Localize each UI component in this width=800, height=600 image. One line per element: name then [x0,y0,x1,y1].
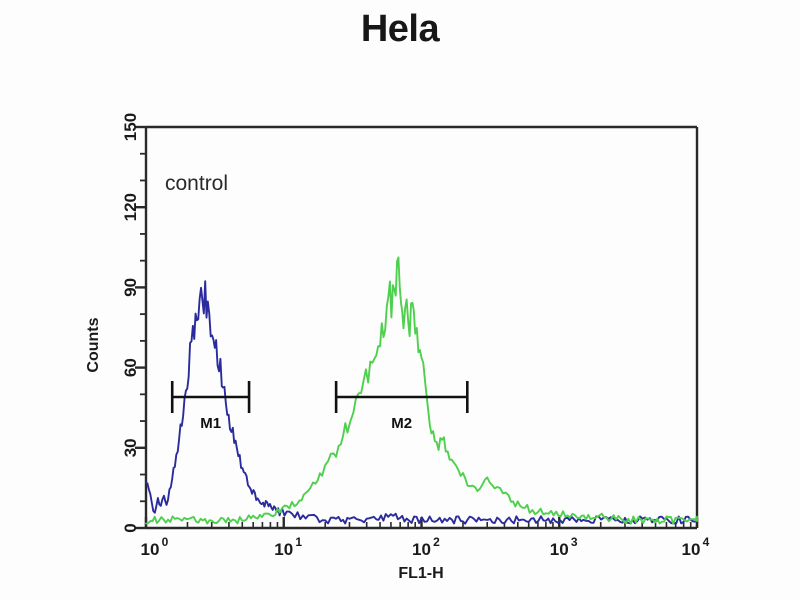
x-tick-exponent: 3 [571,535,578,549]
x-tick-label: 10 [682,540,701,559]
series-traces [146,257,697,523]
gate-marker-label: M2 [391,415,412,432]
y-tick-label: 150 [121,113,140,141]
plot-frame [146,127,697,528]
y-tick-label: 0 [121,523,140,532]
series-trace-control [146,281,695,523]
x-tick-label: 10 [141,540,160,559]
y-tick-label: 30 [121,438,140,457]
histogram-plot: 0306090120150 100101102103104 M1M2 Count… [0,0,800,600]
x-tick-label: 10 [412,540,431,559]
control-annotation: control [165,172,228,195]
series-trace-sample [146,257,697,523]
x-axis-tick-labels: 100101102103104 [141,535,710,559]
gate-marker-label: M1 [200,415,221,432]
x-tick-label: 10 [550,540,569,559]
x-tick-exponent: 4 [703,535,710,549]
x-tick-exponent: 0 [162,535,169,549]
x-tick-label: 10 [274,540,293,559]
gate-marker-m2[interactable]: M2 [336,381,467,432]
y-tick-label: 120 [121,193,140,221]
y-axis-ticks [135,127,146,528]
x-tick-exponent: 1 [295,535,302,549]
y-tick-label: 60 [121,358,140,377]
x-tick-exponent: 2 [433,535,440,549]
y-tick-label: 90 [121,278,140,297]
gate-markers: M1M2 [172,381,467,432]
flow-cytometry-figure: Hela 0306090120150 100101102103104 M1M2 … [0,0,800,600]
x-axis-title: FL1-H [398,565,443,582]
y-axis-tick-labels: 0306090120150 [121,113,140,533]
y-axis-title: Counts [85,317,102,372]
